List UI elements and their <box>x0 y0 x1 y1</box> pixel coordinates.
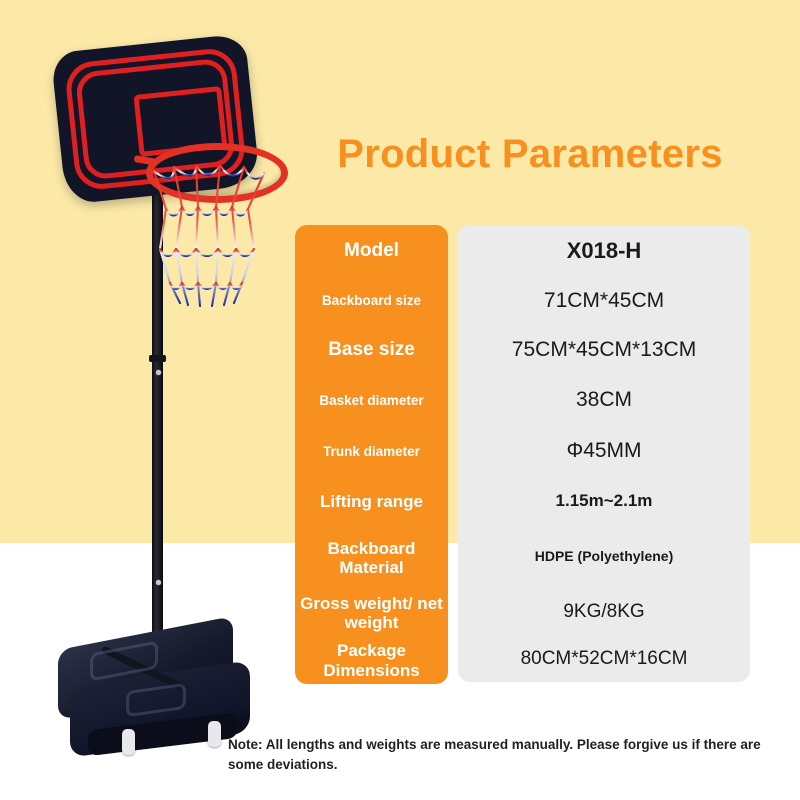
spec-value-backboard-size: 71CM*45CM <box>458 277 750 325</box>
spec-value-base-size: 75CM*45CM*13CM <box>458 325 750 375</box>
spec-label-model: Model <box>295 225 448 277</box>
spec-value-basket-diameter: 38CM <box>458 374 750 426</box>
base-wheel-right <box>208 721 221 747</box>
spec-value-column: X018-H 71CM*45CM 75CM*45CM*13CM 38CM Φ45… <box>458 225 750 682</box>
pole-bolt-lower <box>156 580 161 585</box>
spec-value-model: X018-H <box>458 225 750 277</box>
spec-label-backboard-size: Backboard size <box>295 277 448 325</box>
spec-value-backboard-material: HDPE (Polyethylene) <box>458 526 750 588</box>
spec-label-basket-diameter: Basket diameter <box>295 375 448 427</box>
spec-label-gross-net-weight: Gross weight/ net weight <box>295 589 448 637</box>
spec-label-base-size: Base size <box>295 325 448 375</box>
spec-value-gross-net-weight: 9KG/8KG <box>458 587 750 635</box>
spec-label-lifting-range: Lifting range <box>295 477 448 527</box>
product-spec-image: Product Parameters Model Backboard size … <box>0 0 800 800</box>
base-wheel-left <box>122 729 135 755</box>
basketball-net <box>150 165 272 310</box>
spec-value-package-dimensions: 80CM*52CM*16CM <box>458 635 750 682</box>
spec-label-trunk-diameter: Trunk diameter <box>295 427 448 477</box>
spec-label-column: Model Backboard size Base size Basket di… <box>295 225 448 684</box>
spec-label-backboard-material: Backboard Material <box>295 527 448 589</box>
pole-joint-upper <box>149 355 166 362</box>
spec-value-lifting-range: 1.15m~2.1m <box>458 476 750 526</box>
product-illustration <box>30 25 300 775</box>
page-title: Product Parameters <box>300 126 760 182</box>
disclaimer-note: Note: All lengths and weights are measur… <box>228 735 776 774</box>
pole-bolt-upper <box>156 370 161 375</box>
spec-label-package-dimensions: Package Dimensions <box>295 637 448 684</box>
spec-value-trunk-diameter: Φ45MM <box>458 426 750 476</box>
